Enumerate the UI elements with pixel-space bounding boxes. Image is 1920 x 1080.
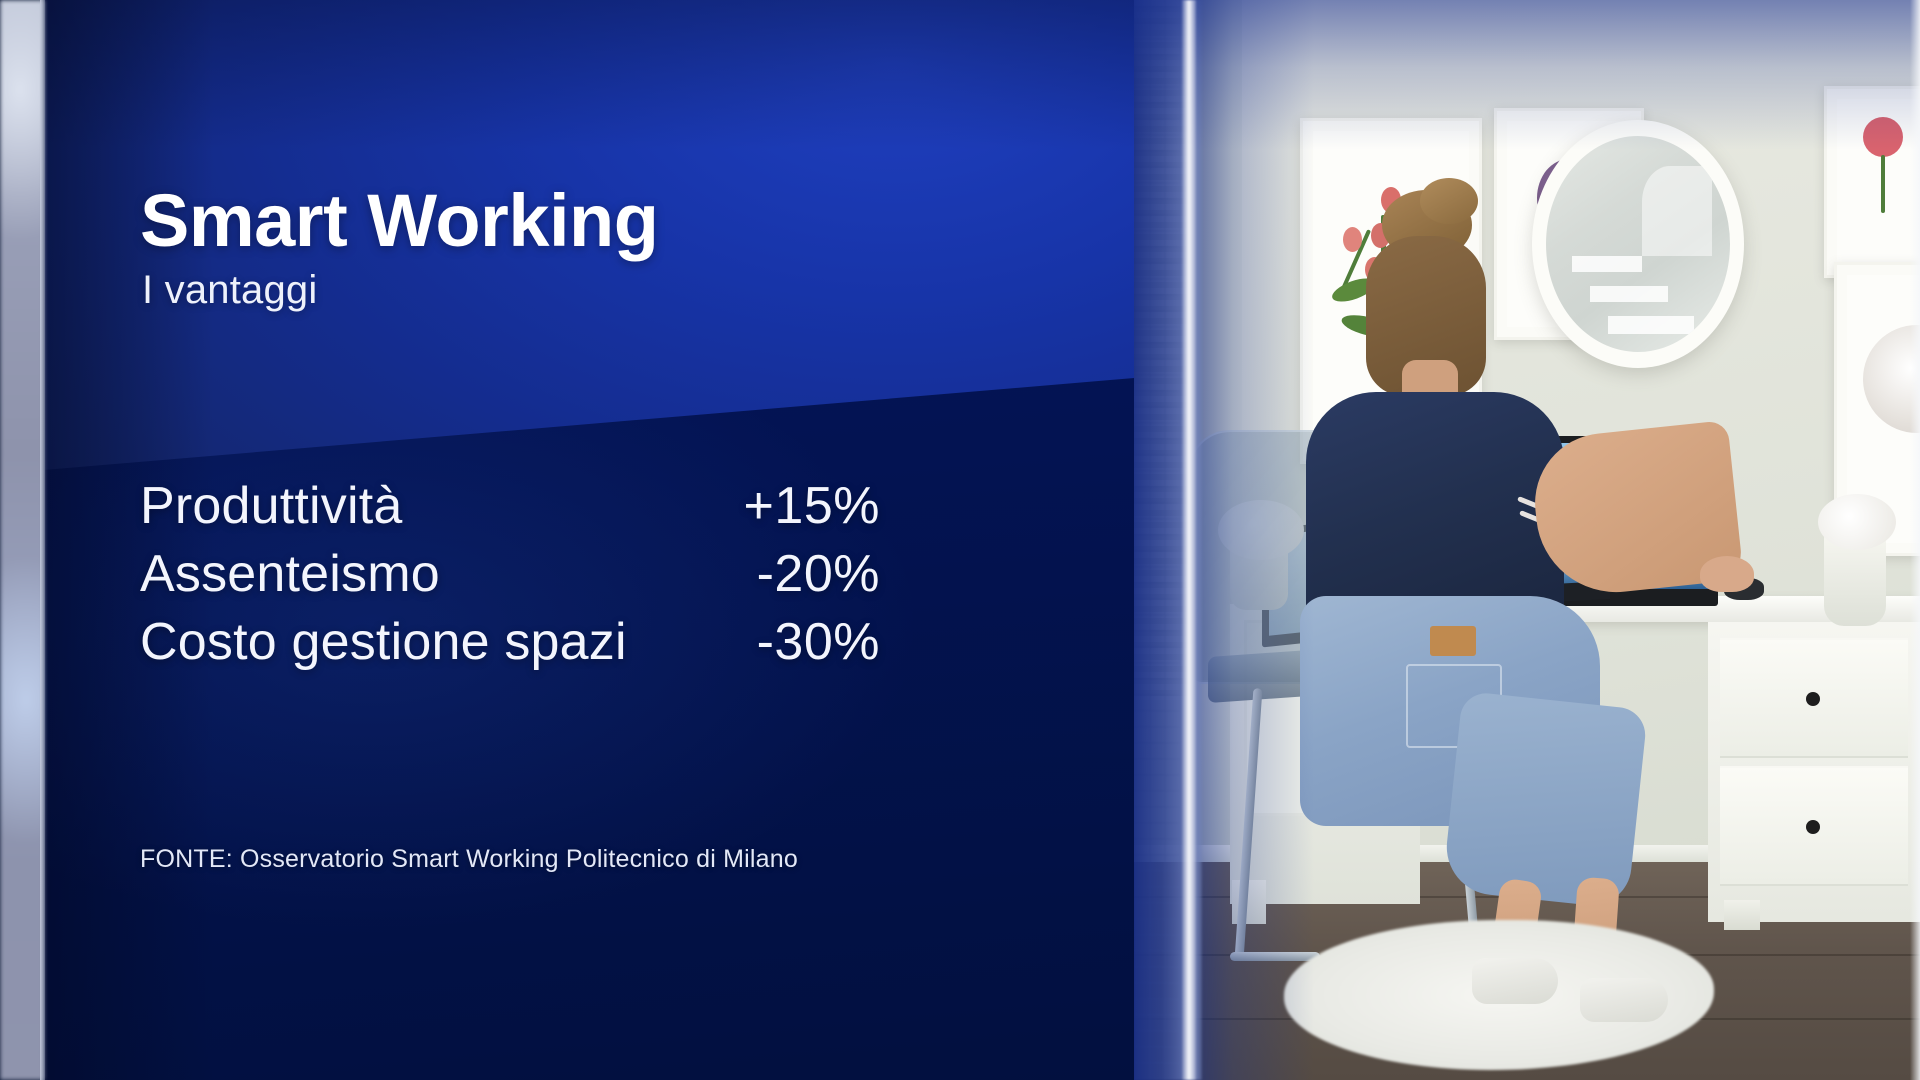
mirror-reflection	[1590, 286, 1668, 302]
mirror-reflection	[1608, 316, 1694, 334]
sock-right	[1580, 978, 1668, 1022]
desk-leg	[1724, 900, 1760, 930]
stat-value: +15%	[744, 476, 880, 536]
hand-on-mouse	[1700, 556, 1754, 592]
jeans-leather-tag	[1430, 626, 1476, 656]
drawer-knob	[1806, 692, 1820, 706]
photo-blue-tint	[1134, 0, 1314, 1080]
stat-label: Assenteismo	[140, 544, 440, 604]
left-edge-strip	[0, 0, 44, 1080]
white-flowers-right	[1818, 494, 1896, 550]
mirror-reflection	[1642, 166, 1712, 256]
stat-label: Costo gestione spazi	[140, 612, 627, 672]
stats-list: Produttività +15% Assenteismo -20% Costo…	[140, 476, 880, 680]
desk-drawer-unit	[1708, 622, 1920, 922]
mirror-glass	[1546, 136, 1730, 352]
source-credit: FONTE: Osservatorio Smart Working Polite…	[140, 845, 798, 874]
torso-navy-tshirt	[1306, 392, 1564, 622]
stat-row: Costo gestione spazi -30%	[140, 612, 880, 680]
drawer-knob	[1806, 820, 1820, 834]
page-subtitle: I vantaggi	[142, 268, 317, 313]
berry	[1343, 227, 1362, 252]
mirror-reflection	[1572, 256, 1642, 272]
panel-content: Smart Working I vantaggi Produttività +1…	[44, 0, 1134, 1080]
glass-bright-edge	[1182, 0, 1196, 1080]
sock-left	[1472, 958, 1558, 1004]
jeans-thigh	[1442, 691, 1648, 909]
page-title: Smart Working	[140, 178, 658, 263]
left-edge-highlight	[40, 0, 45, 1080]
stat-row: Assenteismo -20%	[140, 544, 880, 612]
stat-value: -20%	[757, 544, 880, 604]
photo-top-shade	[1134, 0, 1920, 150]
slide-canvas: Smart Working I vantaggi Produttività +1…	[0, 0, 1920, 1080]
drawer-bottom	[1720, 766, 1908, 886]
info-panel: Smart Working I vantaggi Produttività +1…	[44, 0, 1134, 1080]
drawer-top	[1720, 638, 1908, 758]
stem	[1881, 155, 1885, 213]
stat-row: Produttività +15%	[140, 476, 880, 544]
photo-right-edge	[1910, 0, 1920, 1080]
round-mirror	[1532, 120, 1744, 368]
stat-value: -30%	[757, 612, 880, 672]
home-office-photo	[1134, 0, 1920, 1080]
stat-label: Produttività	[140, 476, 403, 536]
hair-bun-top	[1420, 178, 1478, 224]
